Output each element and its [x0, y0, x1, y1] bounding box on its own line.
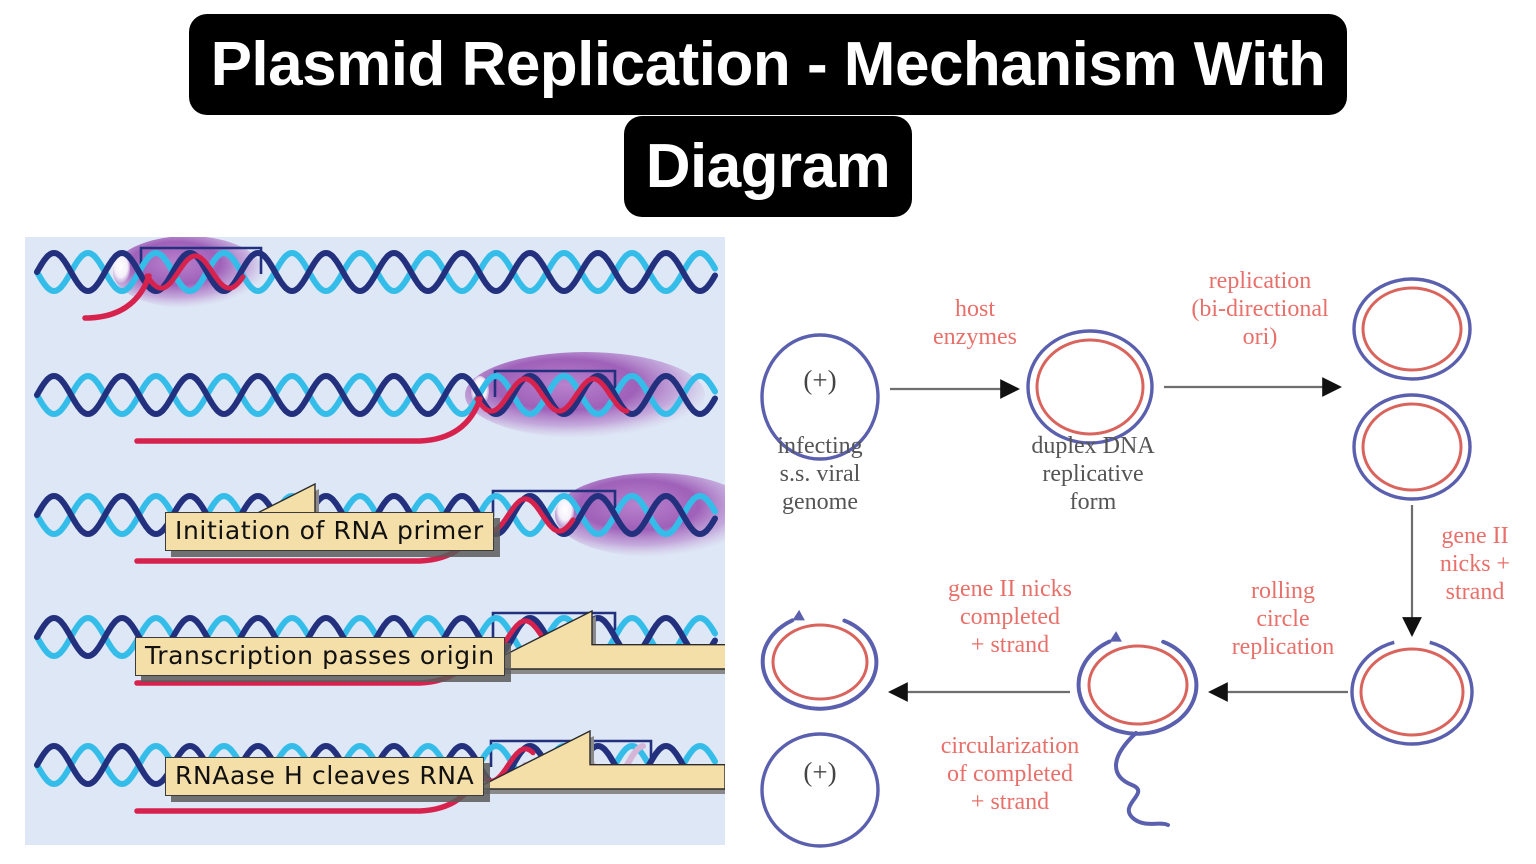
- caption-duplex-rf: duplex DNAreplicativeform: [1018, 432, 1168, 516]
- dna-step-row-1: [37, 237, 715, 318]
- caption-ss-genome: infectings.s. viralgenome: [750, 432, 890, 516]
- right-diagram-panel: (+) infectings.s. viralgenome duplex DNA…: [740, 237, 1536, 864]
- node-completed-duplex: [763, 610, 877, 709]
- dna-step-row-2: [37, 352, 715, 441]
- callout-label-step-1: Initiation of RNA primer: [165, 512, 494, 551]
- annotation-gene2-completed: gene II nickscompleted+ strand: [915, 575, 1105, 659]
- page-title: Plasmid Replication - Mechanism With Dia…: [0, 22, 1536, 226]
- node-circularized-plus: [762, 734, 878, 846]
- title-line-2: Diagram: [624, 116, 913, 217]
- node-duplex-rf: [1028, 331, 1152, 443]
- callout-label-step-3: RNAase H cleaves RNA: [165, 757, 484, 796]
- annotation-host-enzymes: hostenzymes: [905, 295, 1045, 351]
- node-daughter-1: [1354, 279, 1470, 379]
- node-daughter-2: [1354, 395, 1470, 499]
- callout-label-step-2: Transcription passes origin: [135, 637, 505, 676]
- annotation-replication-ori: replication(bi-directionalori): [1165, 267, 1355, 351]
- node-nicked-circle: [1352, 642, 1472, 744]
- annotation-gene2-nicks: gene IInicks +strand: [1420, 522, 1530, 606]
- title-line-1: Plasmid Replication - Mechanism With: [189, 14, 1348, 115]
- left-diagram-panel: Initiation of RNA primer Transcription p…: [25, 237, 725, 845]
- annotation-circularization: circularizationof completed+ strand: [905, 732, 1115, 816]
- annotation-rolling-circle: rollingcirclereplication: [1208, 577, 1358, 661]
